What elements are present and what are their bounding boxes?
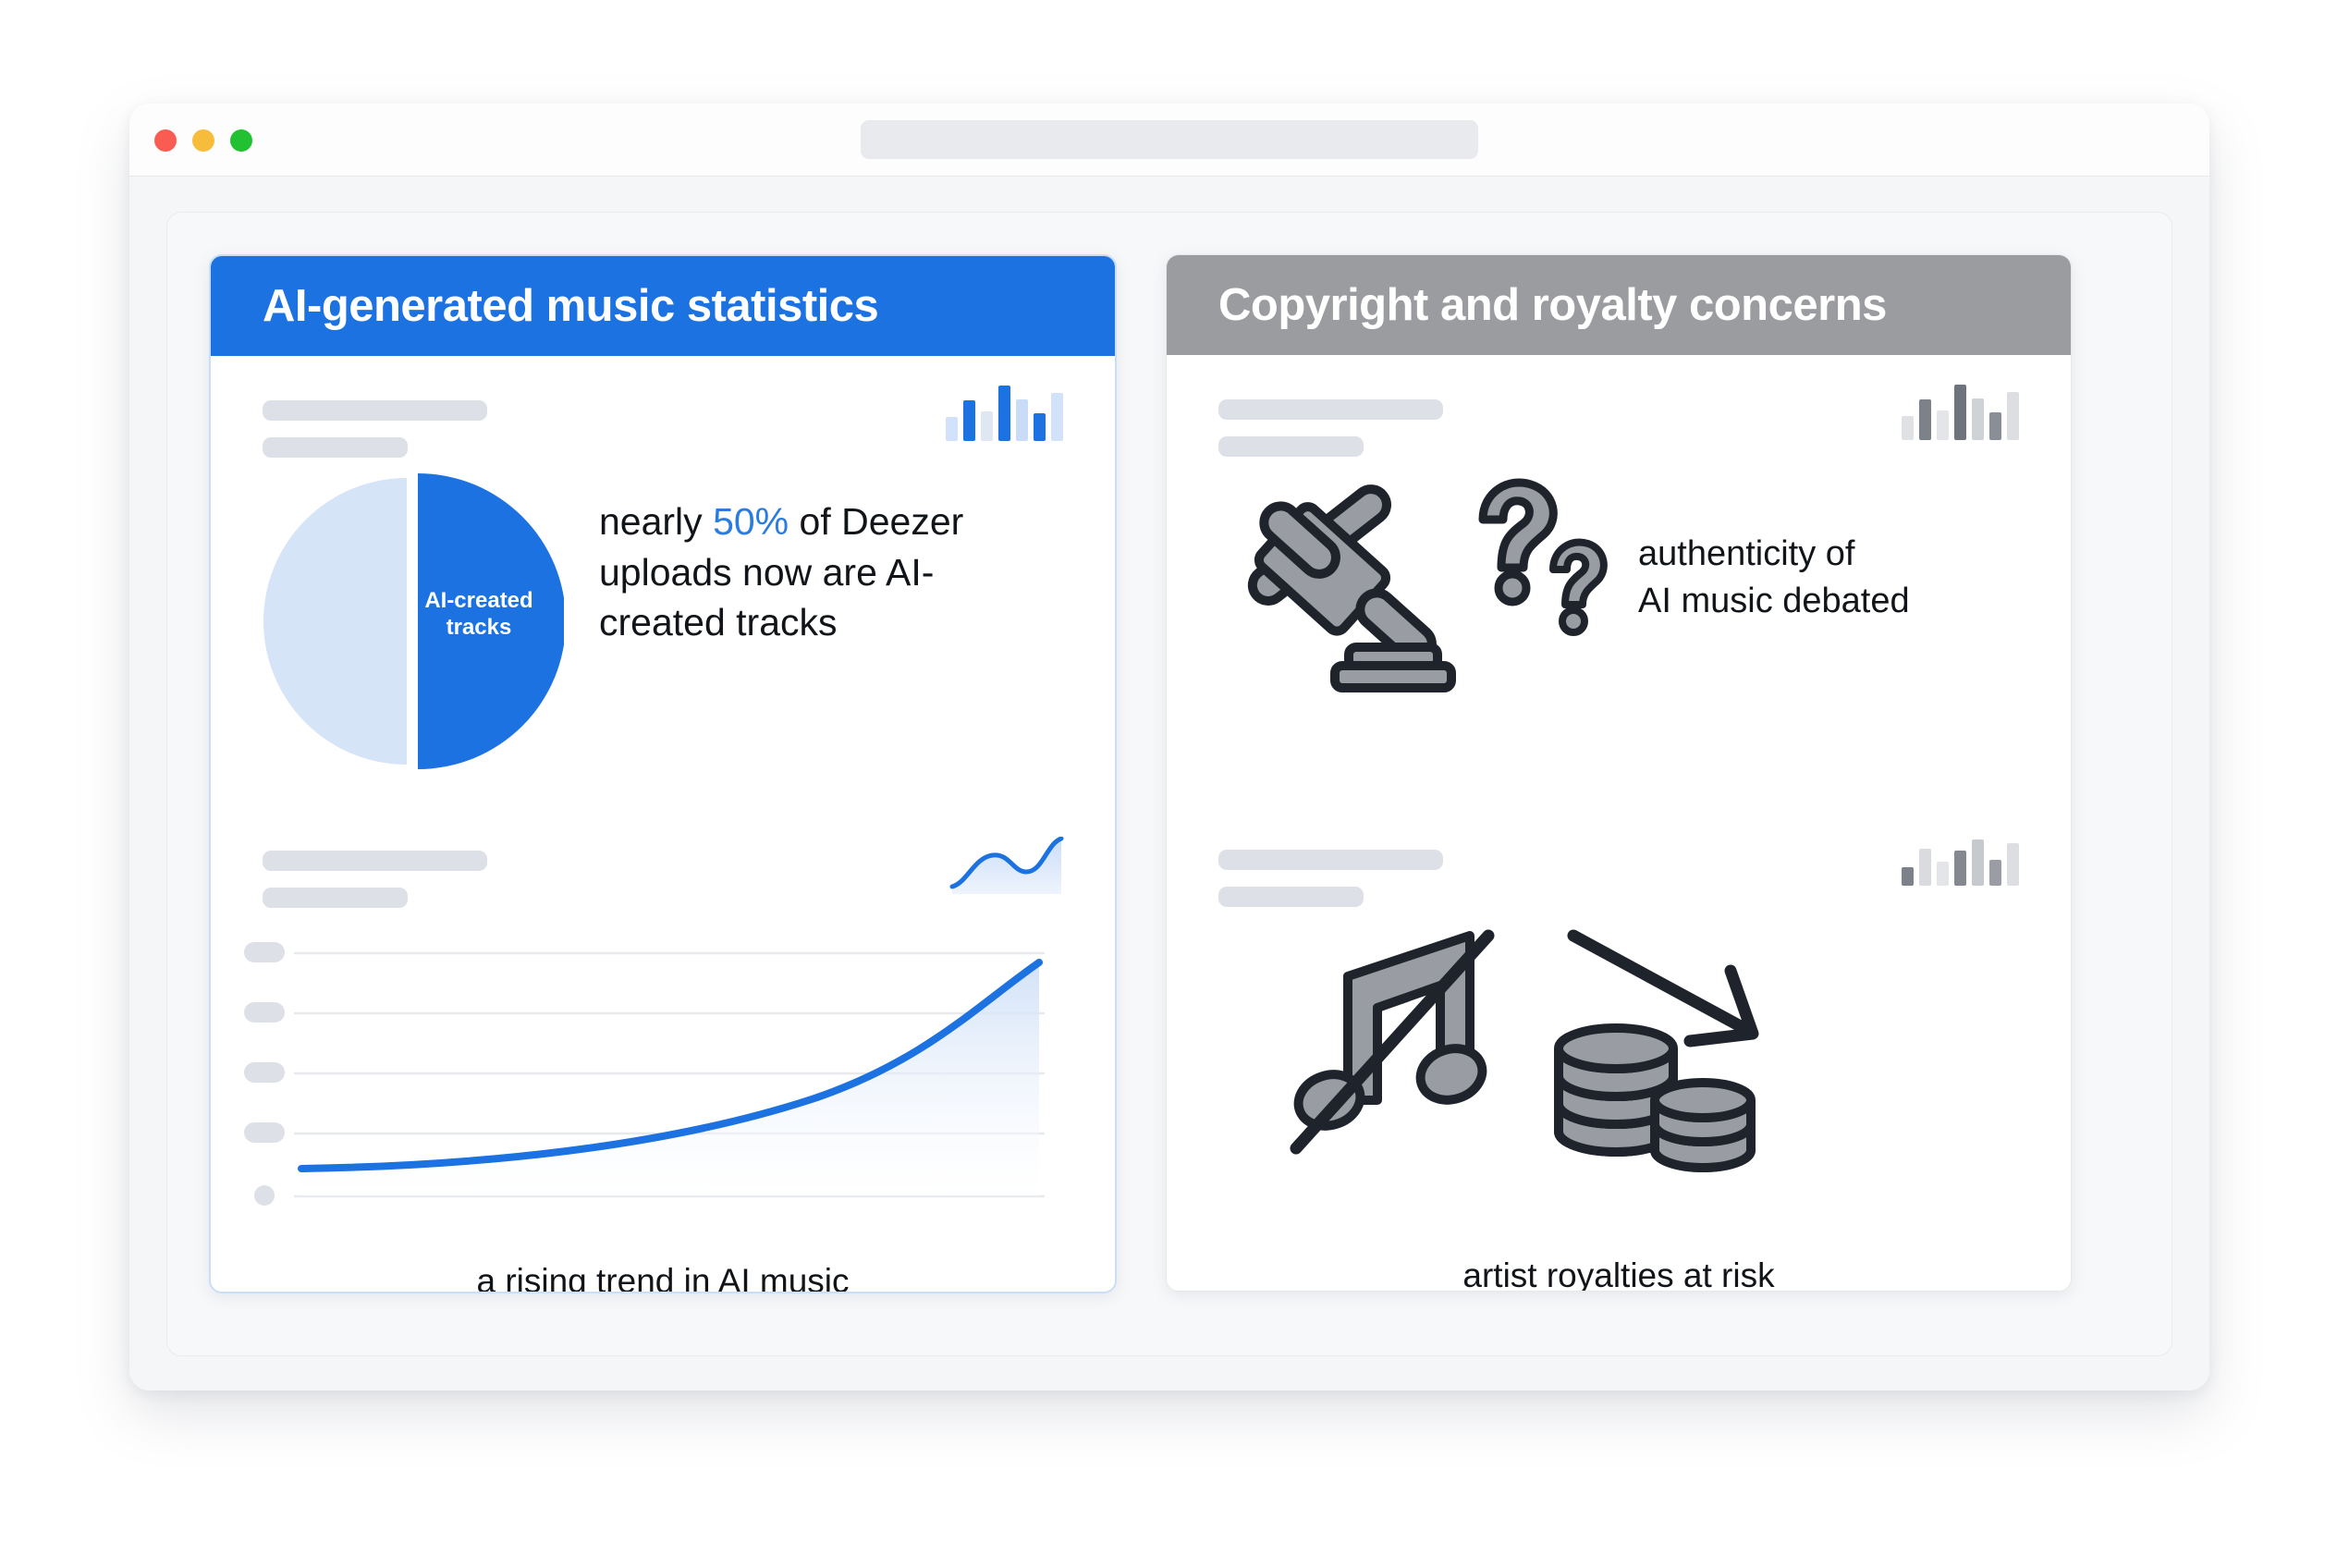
browser-window: AI-generated music statistics <box>129 104 2209 1390</box>
pie-chart-svg <box>259 469 564 774</box>
gavel-block-base <box>1335 666 1451 688</box>
authenticity-caption-line2: AI music debated <box>1638 578 1989 625</box>
skeleton-line <box>263 851 487 871</box>
pie-slice-other <box>263 478 407 765</box>
muted-music-note-and-coins-icon <box>1268 919 1805 1178</box>
bar-chart-icon <box>1902 383 2019 440</box>
address-bar-input[interactable] <box>861 120 1478 159</box>
skeleton-line <box>1218 887 1364 907</box>
panel-body-left: AI-created tracks nearly 50% of Deezer u… <box>211 356 1115 1292</box>
sparkline-icon <box>947 837 1067 894</box>
panel-copyright-royalty-concerns: Copyright and royalty concerns <box>1166 254 2072 1292</box>
y-axis-tick-placeholder <box>244 1062 285 1083</box>
coin-stack-front-icon <box>1655 1083 1751 1168</box>
y-axis-tick-placeholder <box>254 1185 275 1206</box>
trend-caption-line1: a rising trend in AI music <box>211 1257 1115 1293</box>
panel-ai-music-statistics: AI-generated music statistics <box>209 254 1117 1293</box>
authenticity-caption: authenticity of AI music debated <box>1638 531 1989 626</box>
stat-highlight: 50% <box>713 500 789 543</box>
panel-body-right: authenticity of AI music debated <box>1167 355 2071 1291</box>
skeleton-text-block-3 <box>1218 399 1443 457</box>
trend-line-chart-svg <box>294 951 1045 1210</box>
y-axis-tick-placeholders <box>237 942 287 1229</box>
y-axis-tick-placeholder <box>244 1002 285 1023</box>
panel-header-right: Copyright and royalty concerns <box>1167 255 2071 355</box>
skeleton-line <box>263 888 408 908</box>
panel-header-left: AI-generated music statistics <box>211 256 1115 356</box>
close-window-button[interactable] <box>154 129 177 152</box>
skeleton-line <box>1218 436 1364 457</box>
skeleton-text-block-1 <box>263 400 487 458</box>
royalties-caption: artist royalties at risk <box>1167 1256 2071 1292</box>
question-mark-icon-small <box>1553 542 1604 632</box>
authenticity-caption-line1: authenticity of <box>1638 531 1989 578</box>
skeleton-line <box>263 400 487 421</box>
pie-slice-ai-created <box>418 473 564 769</box>
gavel-icon <box>1235 466 1633 697</box>
pie-chart: AI-created tracks <box>259 469 564 774</box>
bar-chart-icon <box>1902 838 2019 886</box>
question-mark-icon <box>1483 483 1553 602</box>
y-axis-tick-placeholder <box>244 1122 285 1143</box>
panel-title-right: Copyright and royalty concerns <box>1218 279 1887 331</box>
y-axis-tick-placeholder <box>244 942 285 962</box>
skeleton-line <box>1218 850 1443 870</box>
skeleton-text-block-2 <box>263 851 487 908</box>
panel-title-left: AI-generated music statistics <box>263 280 878 332</box>
skeleton-text-block-4 <box>1218 850 1443 907</box>
browser-titlebar <box>129 104 2209 177</box>
stat-prefix: nearly <box>599 500 713 543</box>
minimize-window-button[interactable] <box>192 129 214 152</box>
window-controls <box>154 129 252 152</box>
pie-stat-text: nearly 50% of Deezer uploads now are AI-… <box>599 496 1034 648</box>
skeleton-line <box>1218 399 1443 420</box>
trend-line-chart <box>237 942 1069 1229</box>
bar-chart-icon <box>946 384 1063 441</box>
skeleton-line <box>263 437 408 458</box>
royalties-icon-group <box>1268 919 2008 1196</box>
page-viewport: AI-generated music statistics <box>129 177 2209 1390</box>
content-board: AI-generated music statistics <box>166 212 2172 1356</box>
trend-caption: a rising trend in AI music on streaming … <box>211 1257 1115 1293</box>
maximize-window-button[interactable] <box>230 129 252 152</box>
